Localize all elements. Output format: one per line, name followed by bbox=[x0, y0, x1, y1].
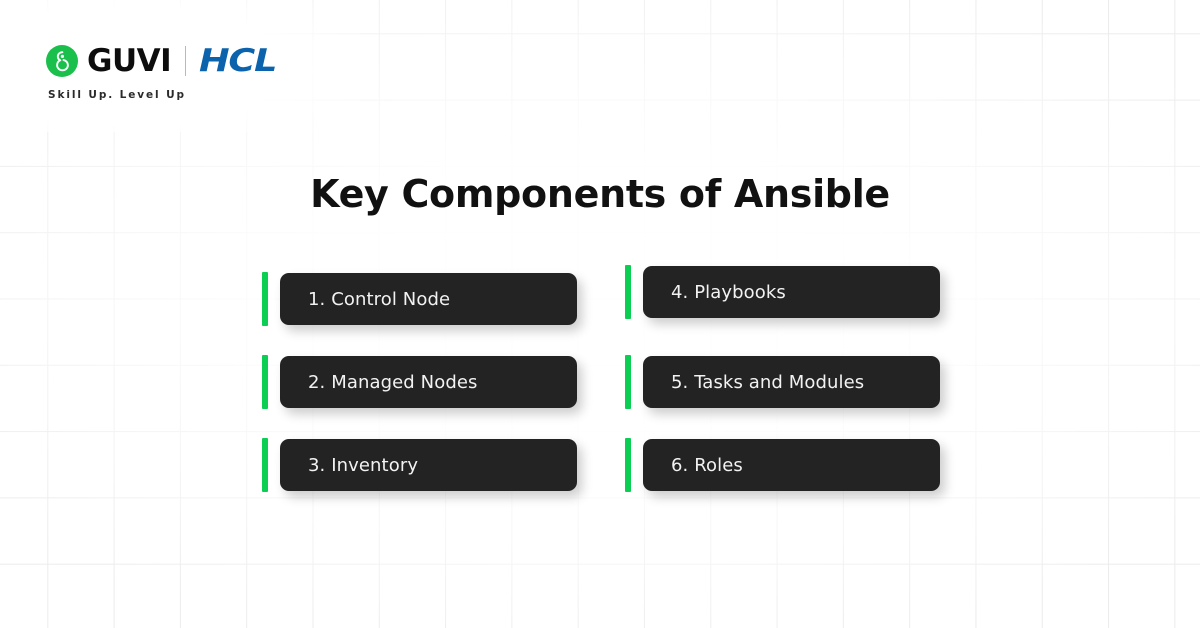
component-card-inventory[interactable]: 3. Inventory bbox=[262, 438, 577, 492]
guvi-g-mark-icon bbox=[46, 45, 78, 77]
card-label: 6. Roles bbox=[643, 455, 763, 476]
accent-bar bbox=[625, 438, 631, 492]
accent-bar bbox=[262, 355, 268, 409]
card-label: 3. Inventory bbox=[280, 455, 438, 476]
card-body[interactable]: 5. Tasks and Modules bbox=[643, 356, 940, 408]
component-card-tasks-and-modules[interactable]: 5. Tasks and Modules bbox=[625, 355, 940, 409]
card-label: 5. Tasks and Modules bbox=[643, 372, 884, 393]
page-title: Key Components of Ansible bbox=[0, 172, 1200, 216]
card-label: 2. Managed Nodes bbox=[280, 372, 498, 393]
card-body[interactable]: 4. Playbooks bbox=[643, 266, 940, 318]
card-label: 1. Control Node bbox=[280, 289, 470, 310]
accent-bar bbox=[625, 355, 631, 409]
accent-bar bbox=[625, 265, 631, 319]
component-card-control-node[interactable]: 1. Control Node bbox=[262, 272, 577, 326]
card-body[interactable]: 1. Control Node bbox=[280, 273, 577, 325]
guvi-wordmark: GUVI bbox=[87, 46, 171, 77]
brand-logo-row: GUVI HCL bbox=[46, 42, 265, 80]
card-body[interactable]: 3. Inventory bbox=[280, 439, 577, 491]
brand-tagline: Skill Up. Level Up bbox=[48, 89, 186, 101]
hcl-wordmark: HCL bbox=[199, 46, 276, 77]
accent-bar bbox=[262, 438, 268, 492]
component-card-managed-nodes[interactable]: 2. Managed Nodes bbox=[262, 355, 577, 409]
card-body[interactable]: 6. Roles bbox=[643, 439, 940, 491]
brand-logo-lockup: GUVI HCL Skill Up. Level Up bbox=[46, 42, 265, 101]
card-body[interactable]: 2. Managed Nodes bbox=[280, 356, 577, 408]
component-card-playbooks[interactable]: 4. Playbooks bbox=[625, 265, 940, 319]
component-card-roles[interactable]: 6. Roles bbox=[625, 438, 940, 492]
brand-divider bbox=[185, 46, 186, 76]
accent-bar bbox=[262, 272, 268, 326]
card-label: 4. Playbooks bbox=[643, 282, 806, 303]
